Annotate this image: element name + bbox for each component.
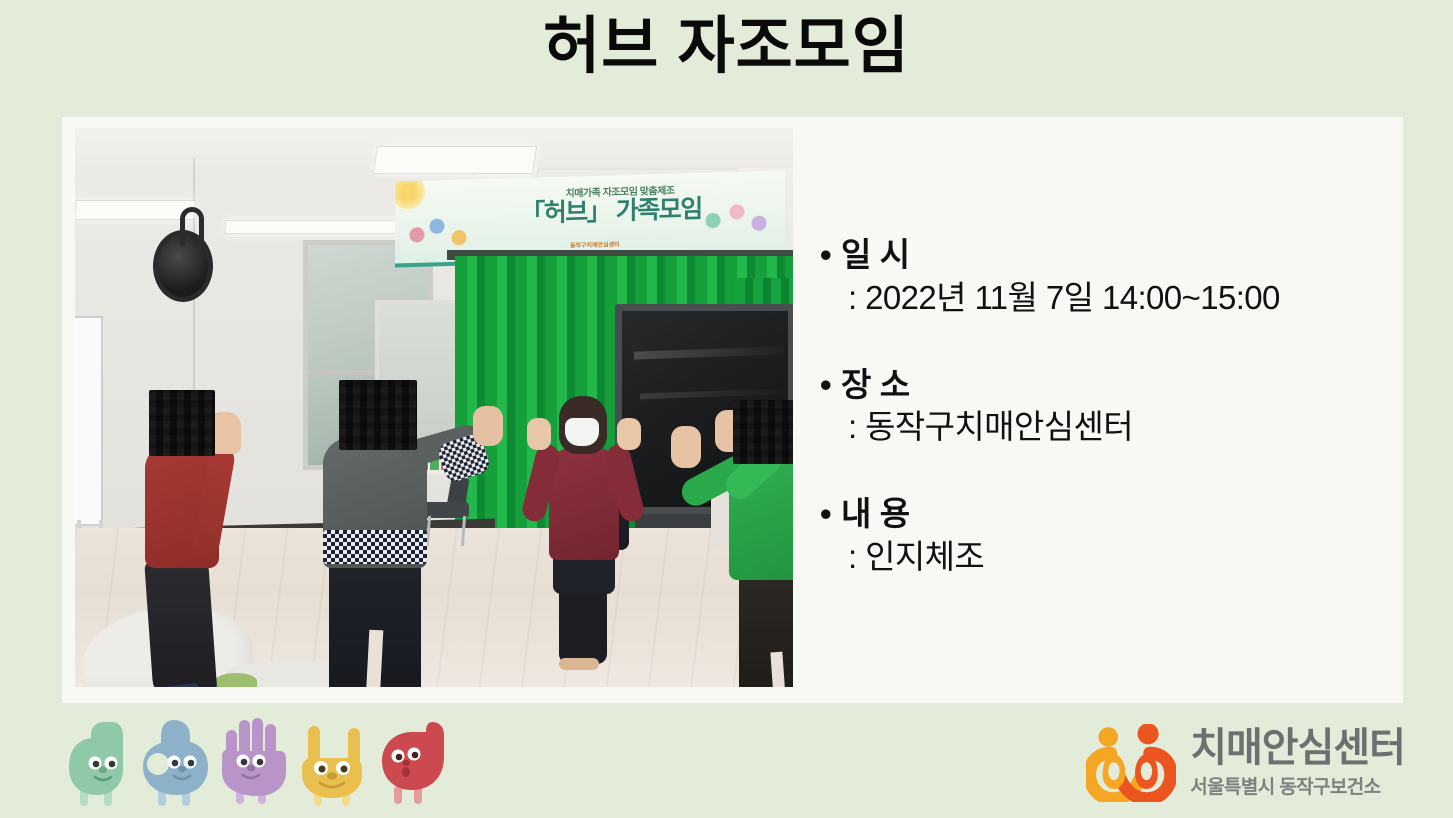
brand-logo: 치매안심센터 서울특별시 동작구보건소 [1086, 724, 1405, 802]
photo-person-instructor-masked [525, 396, 645, 656]
bullet-icon: • [820, 366, 841, 405]
photo-person-grey-vest [293, 380, 483, 687]
photo-ceiling-light [75, 200, 196, 220]
info-label-row: • 내 용 [820, 495, 1380, 534]
brand-subtitle: 서울특별시 동작구보건소 [1190, 772, 1380, 799]
info-label: 내 용 [841, 495, 910, 534]
info-item-location: • 장 소 : 동작구치매안심센터 [820, 366, 1380, 448]
photo-whiteboard [75, 316, 103, 526]
thumbs-up-hand-character-icon [64, 716, 138, 808]
info-label-row: • 장 소 [820, 366, 1380, 405]
info-value: : 인지체조 [848, 537, 1380, 577]
banner-center-logo: 동작구치매안심센터 [570, 239, 620, 249]
open-palm-hand-character-icon [216, 712, 290, 808]
brand-name: 치매안심센터 [1190, 727, 1405, 769]
photo-scene: 치매가족 자조모임 맞춤제조 「허브」 가족모임 동작구치매안심센터 [75, 128, 793, 687]
bullet-icon: • [820, 495, 841, 534]
info-label: 장 소 [841, 366, 910, 405]
bullet-icon: • [820, 236, 841, 275]
photo-face-blur [149, 390, 215, 456]
info-item-datetime: • 일 시 : 2022년 11월 7일 14:00~15:00 [820, 236, 1380, 318]
curved-thumb-hand-character-icon [378, 718, 448, 808]
rock-sign-hand-character-icon [290, 716, 374, 808]
mascot-row [58, 710, 418, 810]
photo-wall-clock [153, 230, 213, 302]
info-value: : 동작구치매안심센터 [848, 407, 1380, 447]
photo-face-blur [733, 400, 793, 464]
photo-face-mask [565, 418, 599, 446]
page-title: 허브 자조모임 [0, 8, 1453, 86]
dementia-center-logo-mark [1086, 724, 1176, 802]
brand-text-block: 치매안심센터 서울특별시 동작구보건소 [1190, 727, 1405, 799]
info-item-content: • 내 용 : 인지체조 [820, 495, 1380, 577]
photo-person-green-top [675, 396, 793, 687]
photo-person-red-top [123, 390, 263, 687]
info-label: 일 시 [841, 236, 910, 275]
ok-sign-hand-character-icon [136, 716, 216, 808]
activity-photo: 치매가족 자조모임 맞춤제조 「허브」 가족모임 동작구치매안심센터 [75, 128, 793, 687]
info-label-row: • 일 시 [820, 236, 1380, 275]
photo-ceiling-light [373, 146, 537, 174]
info-value: : 2022년 11월 7일 14:00~15:00 [848, 278, 1380, 318]
photo-face-blur [339, 380, 417, 450]
event-info-list: • 일 시 : 2022년 11월 7일 14:00~15:00 • 장 소 :… [820, 236, 1380, 577]
